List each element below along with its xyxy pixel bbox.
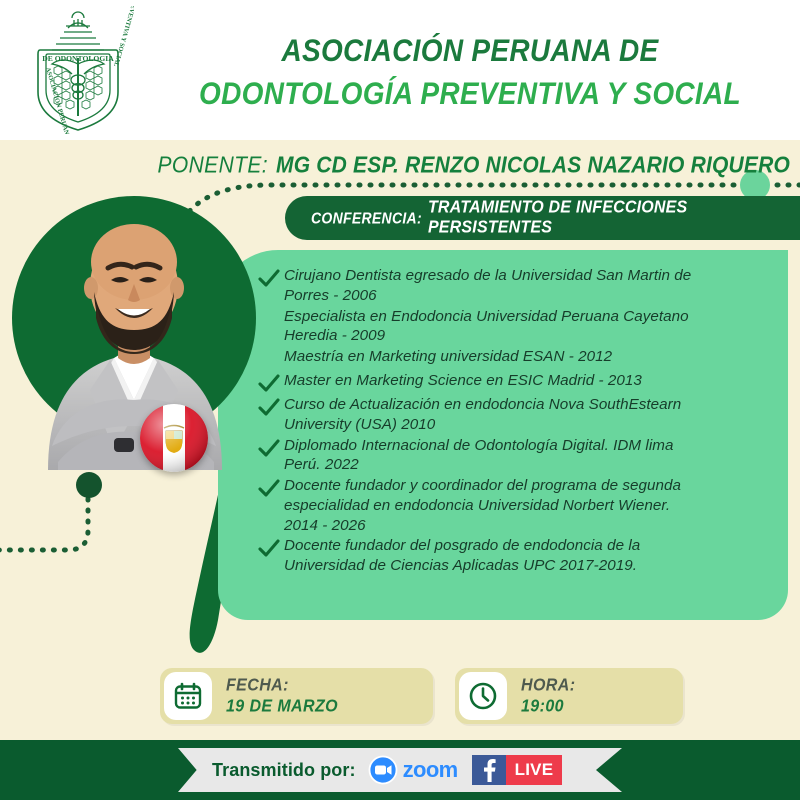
title-line-1: ASOCIACIÓN PERUANA DE xyxy=(150,32,790,69)
dental-association-shield-logo: DE ODONTOLOGIA ASOCIACION PERUANA PREVEN… xyxy=(22,6,134,134)
conference-label: CONFERENCIA: xyxy=(311,209,422,227)
webinar-poster: DE ODONTOLOGIA ASOCIACION PERUANA PREVEN… xyxy=(0,0,800,800)
credential-text: Maestría en Marketing universidad ESAN -… xyxy=(284,347,612,367)
logo-text-right: PREVENTIVA Y SOCIAL xyxy=(112,6,134,67)
calendar-icon xyxy=(164,672,212,720)
credential-text: Diplomado Internacional de Odontología D… xyxy=(284,436,708,476)
check-icon xyxy=(258,398,280,418)
broadcast-row: Transmitido por: zoom LIVE xyxy=(178,748,622,792)
check-icon xyxy=(258,539,280,559)
credential-text: Docente fundador y coordinador del progr… xyxy=(284,476,708,535)
credential-item: Master en Marketing Science en ESIC Madr… xyxy=(258,371,708,394)
path-node-small xyxy=(76,472,102,498)
credential-item: Cirujano Dentista egresado de la Univers… xyxy=(258,266,708,306)
credential-item: Docente fundador del posgrado de endodon… xyxy=(258,536,708,576)
conference-title: TRATAMIENTO DE INFECCIONES PERSISTENTES xyxy=(428,198,800,238)
poster-title: ASOCIACIÓN PERUANA DE ODONTOLOGÍA PREVEN… xyxy=(150,34,790,110)
check-icon xyxy=(258,269,280,289)
credential-item: Especialista en Endodoncia Universidad P… xyxy=(258,307,708,347)
date-chip: FECHA: 19 DE MARZO xyxy=(160,668,433,724)
zoom-logo[interactable]: zoom xyxy=(368,755,458,785)
credential-text: Docente fundador del posgrado de endodon… xyxy=(284,536,708,576)
facebook-live-badge[interactable]: LIVE xyxy=(506,755,563,785)
zoom-wordmark: zoom xyxy=(403,757,458,783)
facebook-icon[interactable] xyxy=(472,755,506,785)
broadcast-label: Transmitido por: xyxy=(212,760,356,781)
poster-header: DE ODONTOLOGIA ASOCIACION PERUANA PREVEN… xyxy=(0,0,800,140)
credential-item: Diplomado Internacional de Odontología D… xyxy=(258,436,708,476)
time-chip: HORA: 19:00 xyxy=(455,668,683,724)
logo-text-top: DE ODONTOLOGIA xyxy=(42,54,114,63)
credential-text: Curso de Actualización en endodoncia Nov… xyxy=(284,395,708,435)
speaker-portrait xyxy=(18,200,250,470)
date-label: FECHA: xyxy=(226,676,338,696)
zoom-camera-icon xyxy=(368,755,398,785)
credential-item: Curso de Actualización en endodoncia Nov… xyxy=(258,395,708,435)
peru-flag-badge xyxy=(140,404,208,472)
time-value: 19:00 xyxy=(521,697,575,717)
check-icon xyxy=(258,479,280,499)
event-details: FECHA: 19 DE MARZO HORA: 19:00 xyxy=(160,668,683,724)
speaker-line: PONENTE: MG CD ESP. RENZO NICOLAS NAZARI… xyxy=(140,150,790,182)
speaker-name: MG CD ESP. RENZO NICOLAS NAZARIO RIQUERO xyxy=(276,153,790,179)
credential-text: Especialista en Endodoncia Universidad P… xyxy=(284,307,708,347)
time-label: HORA: xyxy=(521,676,575,696)
title-line-2: ODONTOLOGÍA PREVENTIVA Y SOCIAL xyxy=(150,75,790,112)
facebook-f-glyph xyxy=(479,758,499,782)
clock-icon xyxy=(459,672,507,720)
credential-item: Docente fundador y coordinador del progr… xyxy=(258,476,708,535)
live-label: LIVE xyxy=(515,760,554,780)
check-icon xyxy=(258,439,280,459)
credential-item: Maestría en Marketing universidad ESAN -… xyxy=(258,347,708,370)
credential-text: Master en Marketing Science en ESIC Madr… xyxy=(284,371,642,391)
conference-bar: CONFERENCIA: TRATAMIENTO DE INFECCIONES … xyxy=(285,196,800,240)
check-icon xyxy=(258,374,280,394)
credential-text: Cirujano Dentista egresado de la Univers… xyxy=(284,266,708,306)
date-value: 19 DE MARZO xyxy=(226,697,338,717)
credentials-list: Cirujano Dentista egresado de la Univers… xyxy=(258,266,708,577)
speaker-label: PONENTE: xyxy=(157,153,268,179)
